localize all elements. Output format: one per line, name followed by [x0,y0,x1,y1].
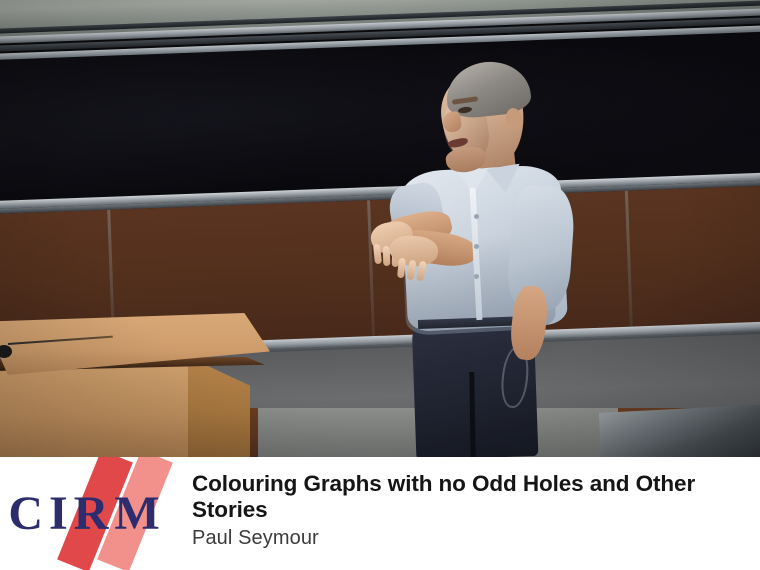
logo-letter-i: I [49,486,74,541]
talk-speaker: Paul Seymour [192,527,752,550]
logo-letter-m: M [114,486,165,541]
shirt-button [474,214,479,219]
logo-letters: C I R M [0,457,178,570]
logo-letter-c: C [8,486,49,541]
talk-title: Colouring Graphs with no Odd Holes and O… [192,471,752,523]
cirm-logo[interactable]: C I R M [0,457,178,570]
speaker-figure [0,0,760,457]
logo-letter-r: R [74,486,115,541]
caption-bar: C I R M Colouring Graphs with no Odd Hol… [0,457,760,570]
shirt-button [474,244,479,249]
screenshot-root: C I R M Colouring Graphs with no Odd Hol… [0,0,760,570]
caption-text-block: Colouring Graphs with no Odd Holes and O… [178,457,760,550]
lecture-video-frame[interactable] [0,0,760,457]
shirt-button [474,274,479,279]
